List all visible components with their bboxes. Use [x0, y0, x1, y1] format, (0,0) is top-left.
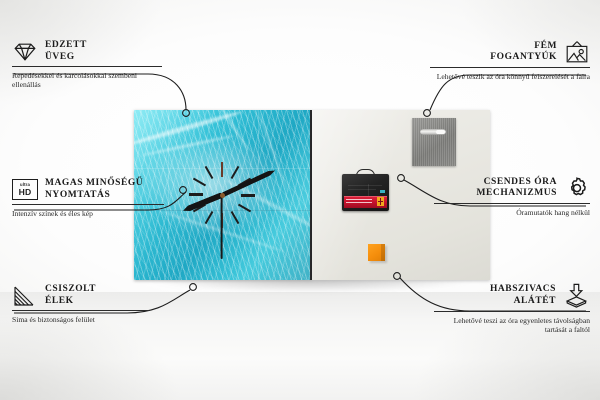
callout-title-row: CSISZOLT ÉLEK: [12, 284, 150, 307]
callout-title-line1: HABSZIVACS: [490, 284, 556, 296]
callout-title-row: ultra HD MAGAS MINŐSÉGŰ NYOMTATÁS: [12, 178, 164, 201]
gear-icon: [564, 176, 590, 200]
mechanism-ridge: [348, 185, 382, 186]
callout-title-line2: ALÁTÉT: [490, 296, 556, 308]
callout-title-row: HABSZIVACS ALÁTÉT: [434, 283, 590, 308]
callout-title-line1: MAGAS MINŐSÉGŰ: [45, 178, 143, 190]
callout-description: Intenzív színek és éles kép: [12, 209, 164, 219]
callout-hd-print: ultra HD MAGAS MINŐSÉGŰ NYOMTATÁS Intenz…: [12, 178, 164, 218]
callout-description: Lehetővé teszi az óra egyenletes távolsá…: [434, 316, 590, 335]
label-battery-mark: [377, 197, 384, 206]
callout-description: Lehetővé teszik az óra könnyű felszerelé…: [430, 72, 590, 82]
callout-description: Óramutatók hang nélkül: [434, 208, 590, 218]
callout-title-row: FÉM FOGANTYÚK: [430, 40, 590, 64]
callout-divider: [430, 67, 590, 68]
callout-title-line2: NYOMTATÁS: [45, 190, 143, 202]
polished-edge-icon: [12, 285, 38, 307]
callout-description: Sima és biztonságos felület: [12, 315, 150, 325]
foam-cushion-icon: [563, 283, 590, 308]
callout-divider: [434, 311, 590, 312]
callout-title-row: EDZETT ÜVEG: [12, 40, 162, 63]
callout-foam-pad: HABSZIVACS ALÁTÉT Lehetővé teszi az óra …: [434, 283, 590, 335]
mechanism-red-label: [344, 196, 387, 208]
mechanism-accent: [380, 190, 385, 193]
callout-title-row: CSENDES ÓRA MECHANIZMUS: [434, 176, 590, 200]
callout-title-line1: FÉM: [490, 41, 557, 53]
foam-shade: [381, 244, 385, 261]
label-text-lines: [346, 199, 372, 205]
callout-quiet-mechanism: CSENDES ÓRA MECHANIZMUS Óramutatók hang …: [434, 176, 590, 217]
callout-title-line1: CSISZOLT: [45, 284, 96, 296]
callout-title-line2: ÜVEG: [45, 52, 87, 64]
mechanism-ridge: [348, 189, 376, 190]
callout-title-line2: FOGANTYÚK: [490, 52, 557, 64]
callout-polished-edges: CSISZOLT ÉLEK Sima és biztonságos felüle…: [12, 284, 150, 324]
metal-hanger-plate: [412, 118, 456, 166]
brushed-metal-grain: [412, 118, 456, 166]
clock-mechanism-module: [342, 169, 389, 211]
callout-title-line1: EDZETT: [45, 40, 87, 52]
callout-divider: [12, 204, 164, 205]
callout-divider: [434, 203, 590, 204]
mechanism-ridge: [368, 184, 369, 196]
hanger-slot: [420, 129, 446, 135]
foam-spacer-pad: [368, 244, 385, 261]
mechanism-body: [342, 174, 389, 211]
callout-metal-handles: FÉM FOGANTYÚK Lehetővé teszik az óra kön…: [430, 40, 590, 81]
callout-title-line2: MECHANIZMUS: [477, 188, 557, 200]
hanging-frame-icon: [564, 40, 590, 64]
callout-title-line2: ÉLEK: [45, 296, 96, 308]
callout-description: Repedésekkel és karcolásokkal szembeni e…: [12, 71, 162, 90]
second-hand: [221, 195, 223, 259]
callout-divider: [12, 66, 162, 67]
callout-tempered-glass: EDZETT ÜVEG Repedésekkel és karcolásokka…: [12, 40, 162, 90]
ultra-hd-badge-icon: ultra HD: [12, 179, 38, 200]
callout-divider: [12, 310, 150, 311]
clock-center-hub: [220, 193, 225, 198]
diamond-icon: [12, 41, 38, 63]
infographic-canvas: EDZETT ÜVEG Repedésekkel és karcolásokka…: [0, 0, 600, 400]
callout-title-line1: CSENDES ÓRA: [477, 177, 557, 189]
badge-hd-label: HD: [19, 188, 32, 197]
